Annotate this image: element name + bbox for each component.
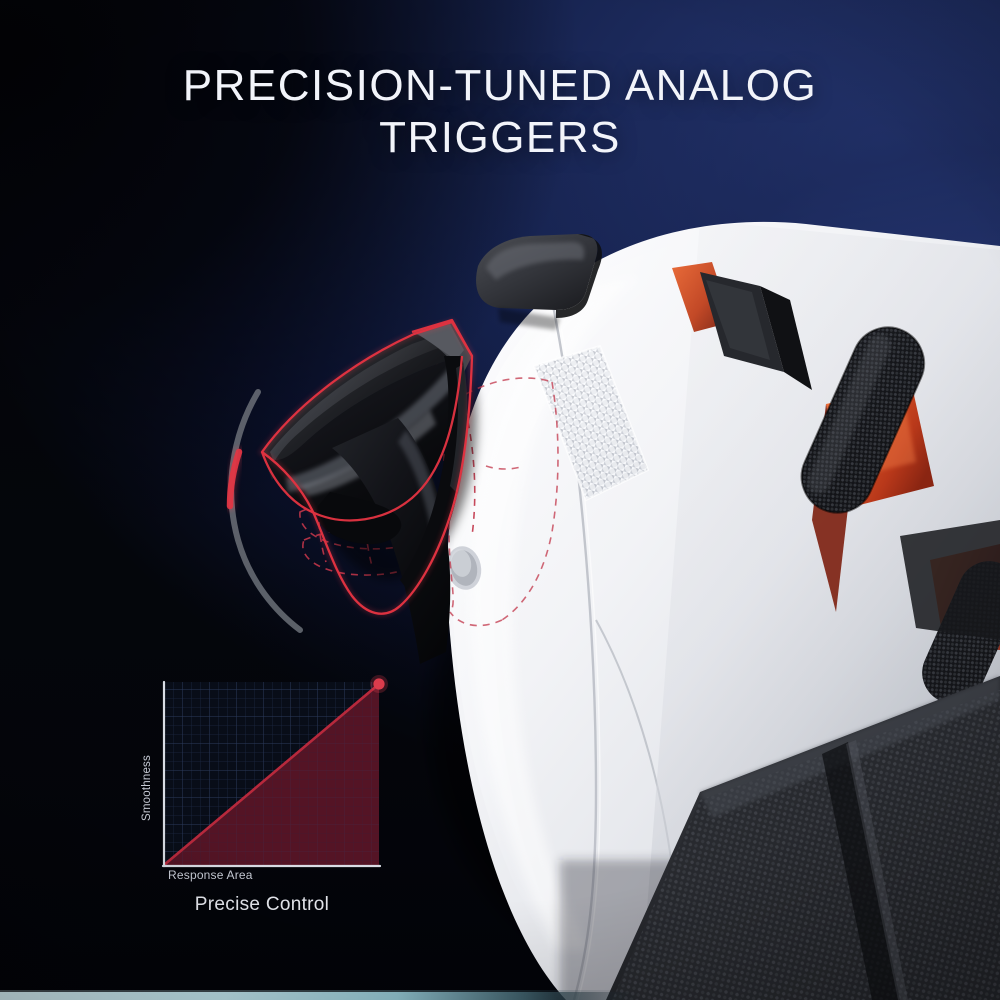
chart-plot-area (164, 682, 379, 865)
analog-trigger (262, 320, 477, 664)
bottom-light-strip (0, 970, 1000, 1000)
chart-caption: Precise Control (128, 894, 396, 916)
chart-x-axis-label: Response Area (168, 868, 253, 882)
chart-endpoint-glow (370, 675, 388, 693)
chart-y-axis-label: Smoothness (141, 738, 153, 838)
response-curve-chart: Smoothness Response Area Precise Control (128, 662, 396, 928)
stick-housing (900, 520, 1000, 640)
chart-svg (128, 662, 396, 892)
travel-arc-glow (230, 452, 239, 506)
product-feature-image: PRECISION-TUNED ANALOG TRIGGERS (0, 0, 1000, 1000)
